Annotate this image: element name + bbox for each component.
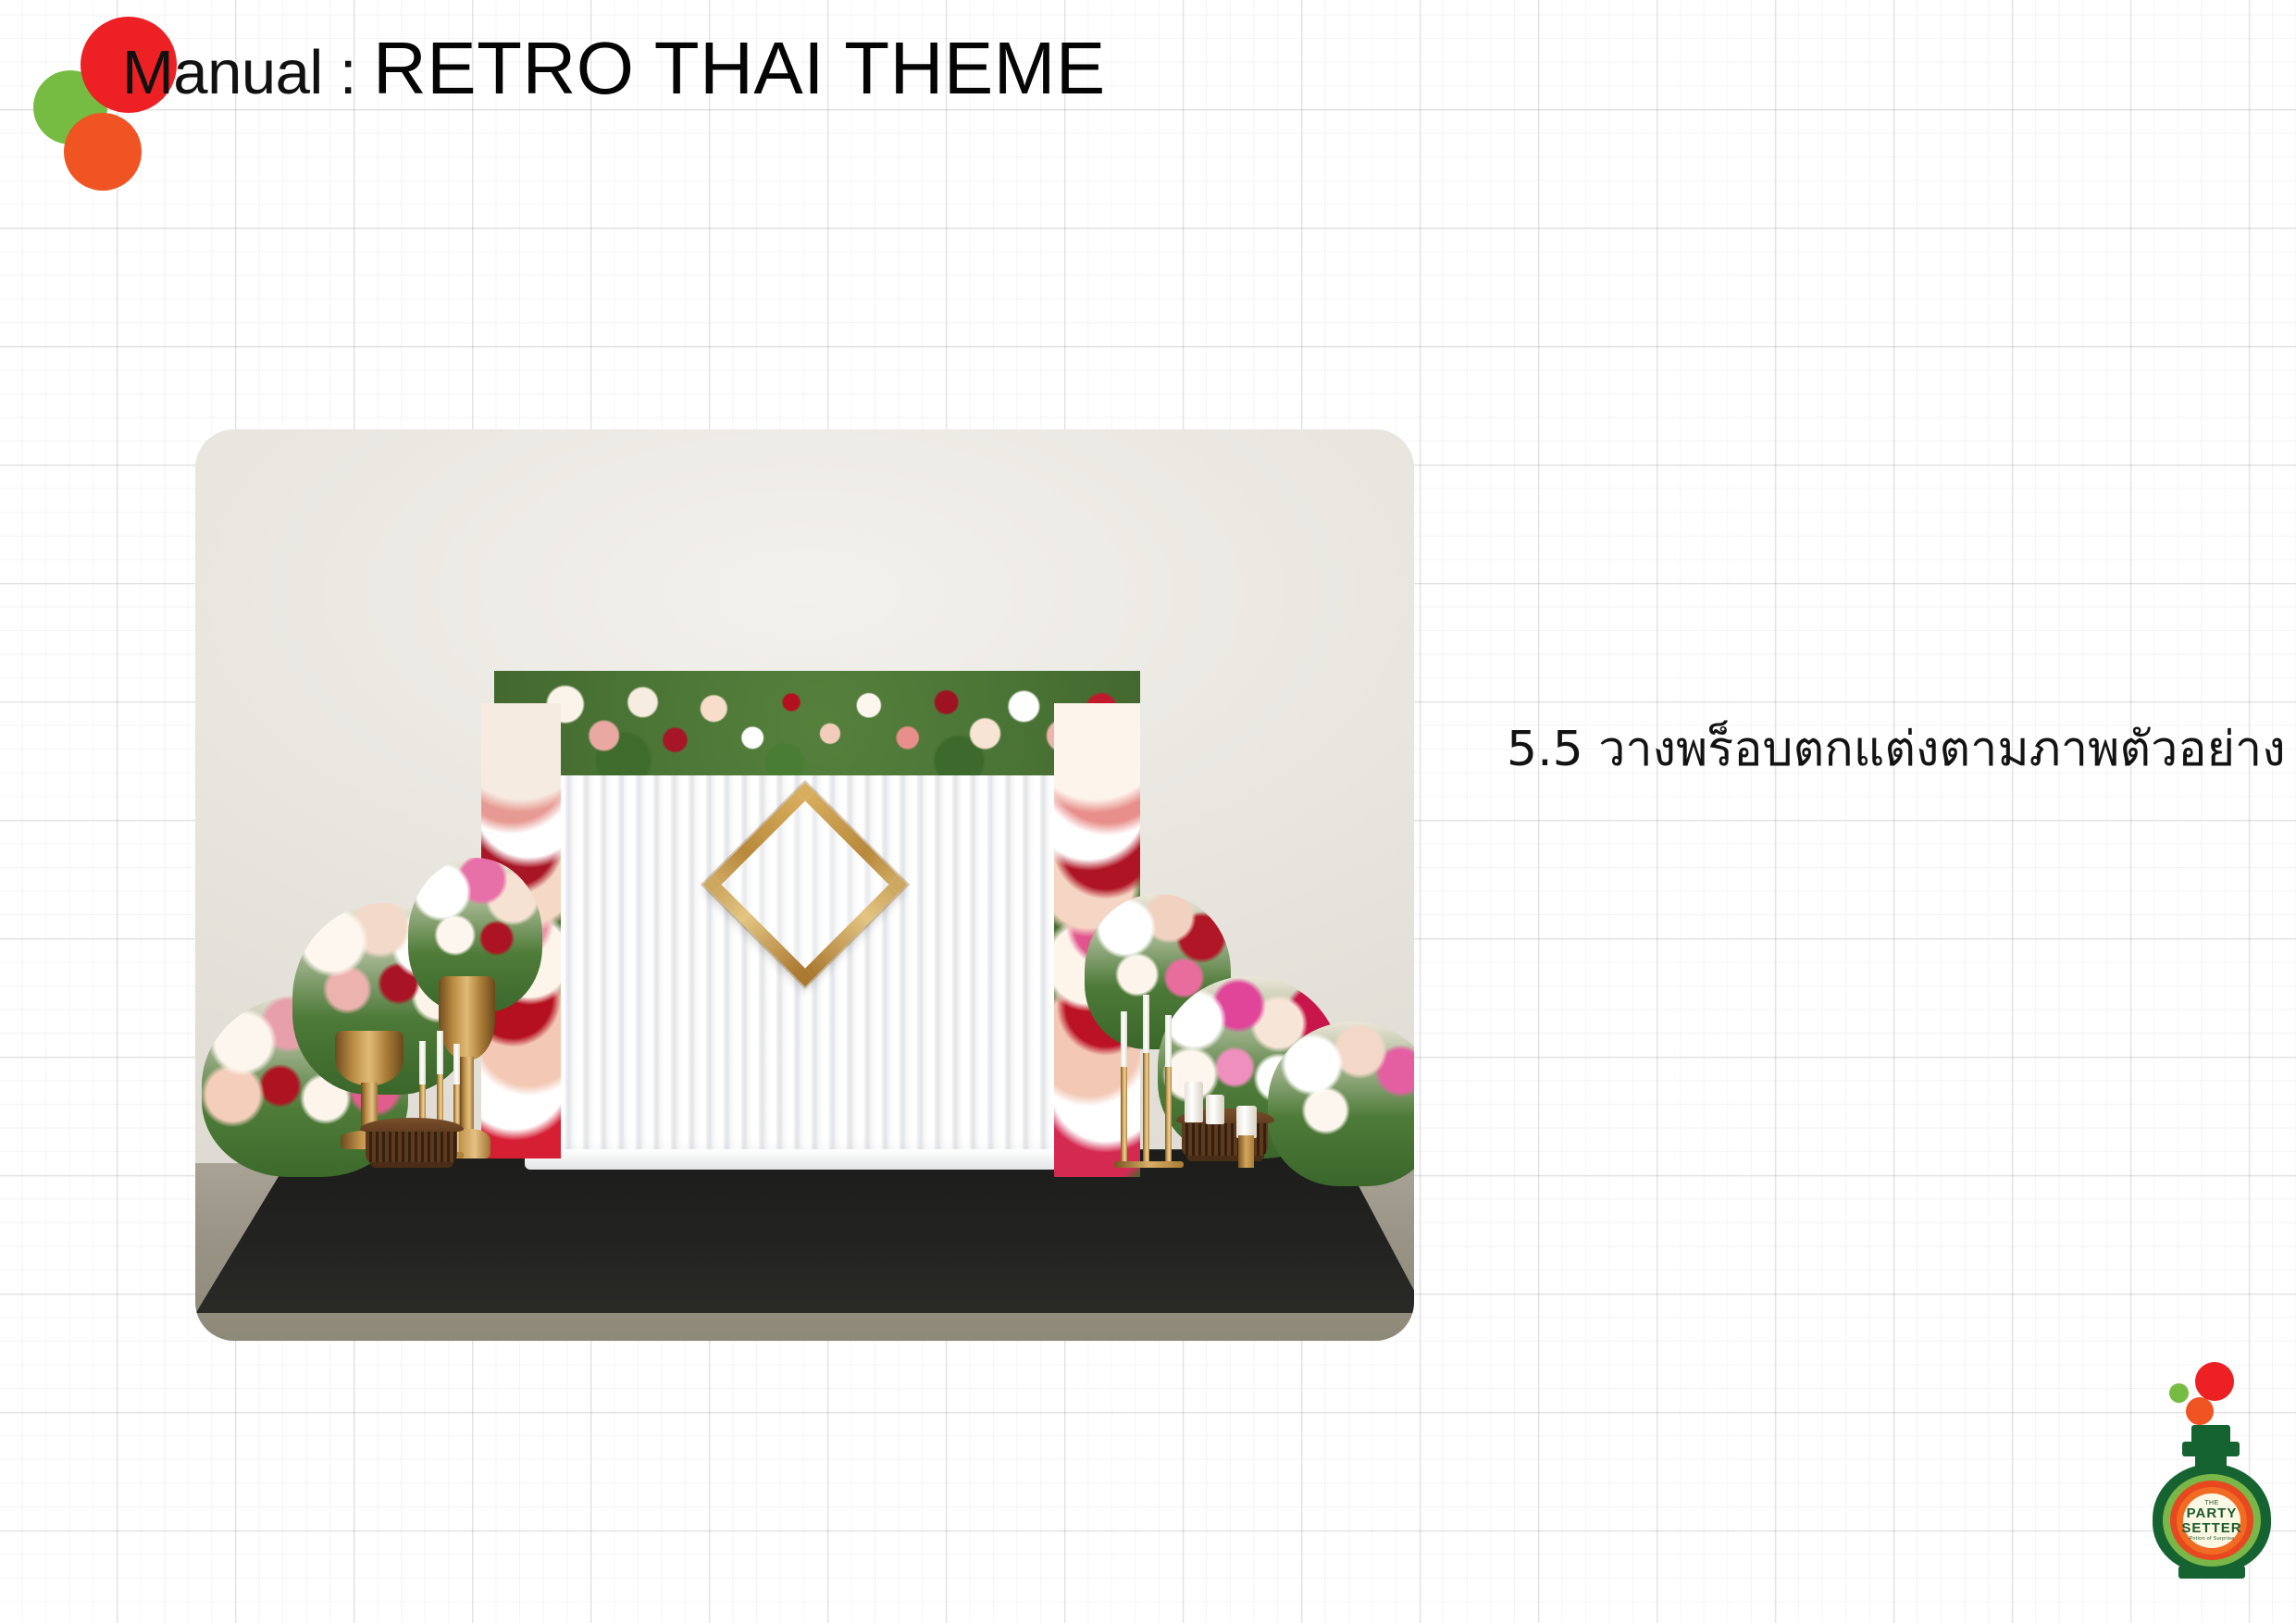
pillar-candle [1185, 1082, 1203, 1121]
candelabra-stem [1165, 1057, 1172, 1168]
taper-candle [1143, 995, 1149, 1054]
page-title: Manual : RETRO THAI THEME [122, 31, 1106, 105]
logo-tagline-text: Potion of Surprise [2189, 1537, 2234, 1542]
urn-bowl [335, 1031, 403, 1085]
taper-candle [437, 1031, 443, 1074]
candelabra-stem [1143, 1043, 1149, 1168]
logo-setter-text: SETTER [2181, 1521, 2241, 1536]
pillar-candle [1206, 1095, 1224, 1124]
pillar-candle [1236, 1106, 1257, 1138]
candelabra-stem [1121, 1053, 1127, 1168]
table-skirt [366, 1132, 457, 1164]
title-main: RETRO THAI THEME [373, 31, 1106, 105]
drape-hem [525, 1149, 1110, 1170]
floral-garland-top [494, 671, 1140, 775]
taper-candle [419, 1041, 426, 1084]
slide-canvas: Manual : RETRO THAI THEME [0, 0, 2296, 1623]
table-foot [370, 1162, 453, 1167]
backdrop-photo [195, 429, 1414, 1341]
logo-bubble-green [2169, 1383, 2189, 1403]
orange-dot [64, 113, 142, 191]
taper-candle [1121, 1011, 1127, 1067]
candelabra-base [1114, 1161, 1184, 1168]
gold-candle-stand [1238, 1135, 1254, 1167]
title-prefix: Manual : [122, 42, 356, 104]
brand-logo: THE PARTY SETTER Potion of Surprise [2147, 1353, 2295, 1584]
logo-party-text: PARTY [2187, 1506, 2238, 1521]
example-photo-card [195, 429, 1414, 1341]
logo-bubble-red [2195, 1362, 2234, 1401]
black-stage-carpet [195, 1149, 1414, 1313]
taper-candle [1165, 1015, 1172, 1067]
step-caption: 5.5 วางพร็อบตกแต่งตามภาพตัวอย่าง [1507, 720, 2286, 780]
logo-wordmark: THE PARTY SETTER Potion of Surprise [2183, 1493, 2240, 1548]
logo-bubble-orange [2186, 1397, 2214, 1425]
taper-candle [453, 1044, 460, 1084]
bottle-base-icon [2178, 1566, 2245, 1579]
wooden-table-left [360, 1118, 464, 1168]
